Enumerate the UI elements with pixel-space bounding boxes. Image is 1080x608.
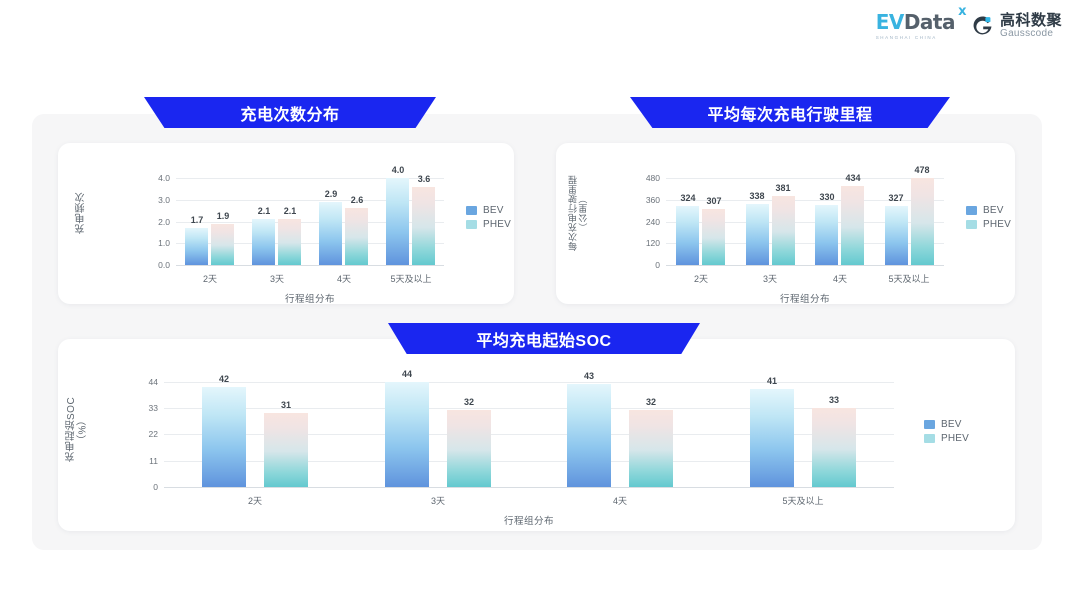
x-axis-tick-label: 3天 <box>270 272 284 285</box>
bar-bev <box>676 206 699 265</box>
legend-item-phev[interactable]: PHEV <box>466 219 511 230</box>
bar-bev <box>746 204 769 265</box>
x-axis-tick-label: 5天及以上 <box>888 272 929 285</box>
bar-value-label: 2.6 <box>351 195 364 205</box>
bar-value-label: 32 <box>464 397 474 407</box>
legend-swatch-phev-icon <box>966 220 977 229</box>
y-axis-tick-label: 0 <box>622 260 660 270</box>
slide-root: EVData x SHANGHAI CHINA 高科数聚 Gausscode 充… <box>0 0 1080 608</box>
bar-value-label: 42 <box>219 374 229 384</box>
header-logos: EVData x SHANGHAI CHINA 高科数聚 Gausscode <box>876 12 1062 40</box>
plot-area-1: 充电频次4.03.02.01.00.01.71.92天2.12.13天2.92.… <box>58 143 514 304</box>
chart-title-2: 平均每次充电行驶里程 <box>707 101 872 125</box>
gausscode-text: 高科数聚 Gausscode <box>1000 13 1062 39</box>
bar-value-label: 381 <box>775 183 790 193</box>
bar-bev <box>386 178 409 265</box>
x-axis-tick-label: 2天 <box>203 272 217 285</box>
y-axis-tick-label: 33 <box>120 403 158 413</box>
bar-bev <box>885 206 908 265</box>
bar-bev <box>815 205 838 265</box>
legend-item-bev[interactable]: BEV <box>924 419 969 430</box>
x-axis-title: 行程组分布 <box>285 291 335 305</box>
y-axis-tick-label: 4.0 <box>132 173 170 183</box>
legend-swatch-phev-icon <box>924 434 935 443</box>
bar-phev <box>702 209 725 265</box>
evdata-x-icon: x <box>958 5 966 18</box>
bar-phev <box>211 224 234 265</box>
y-axis-tick-label: 120 <box>622 238 660 248</box>
evdata-data-text: Data <box>904 10 955 34</box>
x-axis-tick-label: 2天 <box>248 494 262 507</box>
x-axis-tick-label: 3天 <box>763 272 777 285</box>
y-axis-tick-label: 3.0 <box>132 195 170 205</box>
legend-swatch-bev-icon <box>924 420 935 429</box>
gridline <box>164 382 894 383</box>
x-axis-title: 行程组分布 <box>504 513 554 527</box>
bar-phev <box>345 208 368 265</box>
y-axis-title: 充电起始SOC （%） <box>66 377 89 482</box>
chart-title-3: 平均充电起始SOC <box>476 327 611 351</box>
legend-label-bev: BEV <box>983 205 1004 216</box>
bar-phev <box>447 410 491 487</box>
y-axis-tick-label: 240 <box>622 217 660 227</box>
chart-title-banner-1: 充电次数分布 <box>144 97 436 128</box>
bar-bev <box>252 219 275 265</box>
bar-phev <box>278 219 301 265</box>
legend-label-phev: PHEV <box>483 219 511 230</box>
bar-value-label: 2.1 <box>258 206 271 216</box>
bar-value-label: 1.9 <box>217 211 230 221</box>
bar-bev <box>567 384 611 487</box>
bar-value-label: 338 <box>749 191 764 201</box>
legend-swatch-bev-icon <box>966 206 977 215</box>
bar-value-label: 2.1 <box>284 206 297 216</box>
bar-value-label: 41 <box>767 376 777 386</box>
x-axis-tick-label: 3天 <box>431 494 445 507</box>
y-axis-tick-label: 44 <box>120 377 158 387</box>
plot-area-3: 充电起始SOC （%）44332211042312天44323天43324天41… <box>58 339 1015 531</box>
y-axis-tick-label: 22 <box>120 429 158 439</box>
gausscode-mark-icon <box>971 15 994 38</box>
bar-bev <box>319 202 342 265</box>
bar-value-label: 327 <box>888 193 903 203</box>
bar-value-label: 44 <box>402 369 412 379</box>
x-axis-tick-label: 2天 <box>694 272 708 285</box>
chart-title-banner-3: 平均充电起始SOC <box>388 323 700 354</box>
chart-legend: BEVPHEV <box>466 205 511 230</box>
bar-phev <box>412 187 435 265</box>
y-axis-tick-label: 0.0 <box>132 260 170 270</box>
x-axis-tick-label: 4天 <box>833 272 847 285</box>
y-axis-tick-label: 360 <box>622 195 660 205</box>
legend-item-bev[interactable]: BEV <box>966 205 1011 216</box>
y-axis-tick-label: 2.0 <box>132 217 170 227</box>
x-axis-tick-label: 4天 <box>613 494 627 507</box>
axis-baseline <box>176 265 444 266</box>
legend-swatch-phev-icon <box>466 220 477 229</box>
bar-value-label: 1.7 <box>191 215 204 225</box>
bar-value-label: 324 <box>680 193 695 203</box>
legend-label-phev: PHEV <box>941 433 969 444</box>
bar-value-label: 478 <box>914 165 929 175</box>
bar-value-label: 31 <box>281 400 291 410</box>
evdata-logo: EVData x SHANGHAI CHINA <box>876 12 955 40</box>
evdata-ev-text: EV <box>876 10 904 34</box>
bar-phev <box>812 408 856 487</box>
bar-bev <box>185 228 208 265</box>
x-axis-title: 行程组分布 <box>780 291 830 305</box>
x-axis-tick-label: 5天及以上 <box>390 272 431 285</box>
bar-value-label: 307 <box>706 196 721 206</box>
legend-swatch-bev-icon <box>466 206 477 215</box>
gausscode-cn-name: 高科数聚 <box>1000 13 1062 29</box>
bar-value-label: 4.0 <box>392 165 405 175</box>
bar-phev <box>841 186 864 265</box>
bar-value-label: 2.9 <box>325 189 338 199</box>
chart-title-banner-2: 平均每次充电行驶里程 <box>630 97 950 128</box>
bar-phev <box>772 196 795 265</box>
bar-bev <box>750 389 794 487</box>
bar-value-label: 3.6 <box>418 174 431 184</box>
evdata-wordmark: EVData x <box>876 12 955 32</box>
legend-label-bev: BEV <box>483 205 504 216</box>
bar-phev <box>264 413 308 487</box>
chart-legend: BEVPHEV <box>966 205 1011 230</box>
chart-legend: BEVPHEV <box>924 419 969 444</box>
axis-baseline <box>666 265 944 266</box>
legend-label-bev: BEV <box>941 419 962 430</box>
plot-area-2: 每次充电行驶里程 （公里）48036024012003243072天338381… <box>556 143 1015 304</box>
y-axis-tick-label: 1.0 <box>132 238 170 248</box>
evdata-tagline: SHANGHAI CHINA <box>876 35 937 40</box>
bar-value-label: 43 <box>584 371 594 381</box>
y-axis-tick-label: 11 <box>120 456 158 466</box>
y-axis-tick-label: 480 <box>622 173 660 183</box>
y-axis-title: 每次充电行驶里程 （公里） <box>568 157 589 269</box>
bar-bev <box>202 387 246 487</box>
bar-value-label: 32 <box>646 397 656 407</box>
legend-label-phev: PHEV <box>983 219 1011 230</box>
chart-title-1: 充电次数分布 <box>240 101 339 125</box>
bar-value-label: 330 <box>819 192 834 202</box>
bar-phev <box>911 178 934 265</box>
x-axis-tick-label: 5天及以上 <box>782 494 823 507</box>
legend-item-bev[interactable]: BEV <box>466 205 511 216</box>
y-axis-title: 充电频次 <box>76 173 88 253</box>
bar-bev <box>385 382 429 487</box>
gausscode-en-name: Gausscode <box>1000 29 1062 40</box>
x-axis-tick-label: 4天 <box>337 272 351 285</box>
y-axis-tick-label: 0 <box>120 482 158 492</box>
bar-phev <box>629 410 673 487</box>
gridline <box>666 178 944 179</box>
gausscode-logo: 高科数聚 Gausscode <box>971 13 1062 39</box>
bar-value-label: 434 <box>845 173 860 183</box>
legend-item-phev[interactable]: PHEV <box>924 433 969 444</box>
legend-item-phev[interactable]: PHEV <box>966 219 1011 230</box>
bar-value-label: 33 <box>829 395 839 405</box>
axis-baseline <box>164 487 894 488</box>
